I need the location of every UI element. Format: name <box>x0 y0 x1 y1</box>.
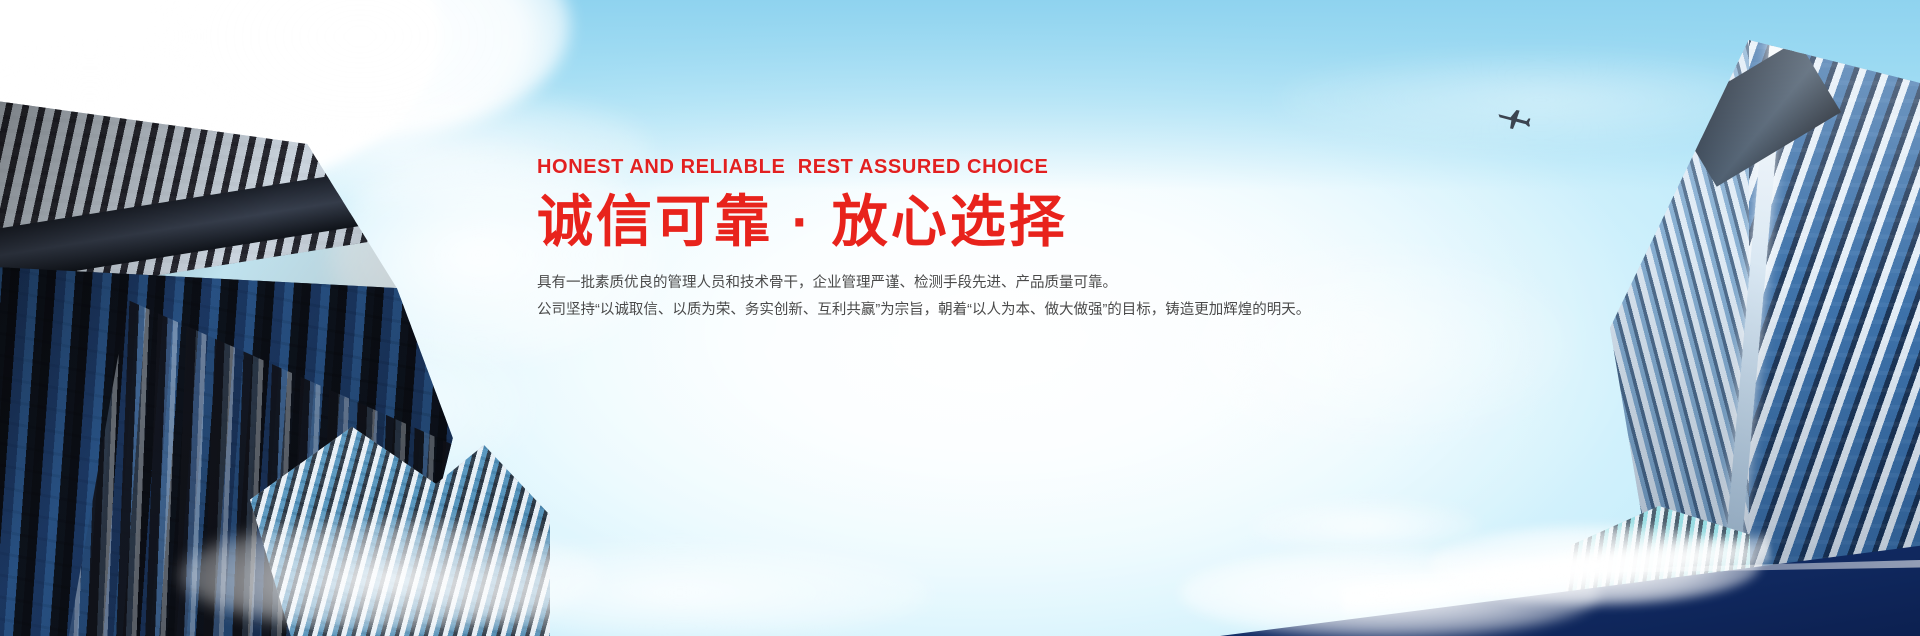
banner-description: 具有一批素质优良的管理人员和技术骨干，企业管理严谨、检测手段先进、产品质量可靠。… <box>537 271 1357 323</box>
description-line-1: 具有一批素质优良的管理人员和技术骨干，企业管理严谨、检测手段先进、产品质量可靠。 <box>537 271 1357 296</box>
airplane-icon <box>1497 108 1531 130</box>
banner-headline: 诚信可靠 · 放心选择 <box>537 189 1357 255</box>
banner-copy: HONEST AND RELIABLE REST ASSURED CHOICE … <box>537 155 1357 325</box>
banner-eyebrow: HONEST AND RELIABLE REST ASSURED CHOICE <box>537 155 1357 179</box>
cloud-bottom-right-3 <box>1250 500 1480 552</box>
hero-banner: HONEST AND RELIABLE REST ASSURED CHOICE … <box>0 0 1920 636</box>
description-line-2: 公司坚持“以诚取信、以质为荣、务实创新、互利共赢”为宗旨，朝着“以人为本、做大做… <box>537 298 1357 323</box>
cloud-bottom-left-2 <box>430 545 930 636</box>
cloud-bottom-right-2 <box>1430 525 1760 605</box>
